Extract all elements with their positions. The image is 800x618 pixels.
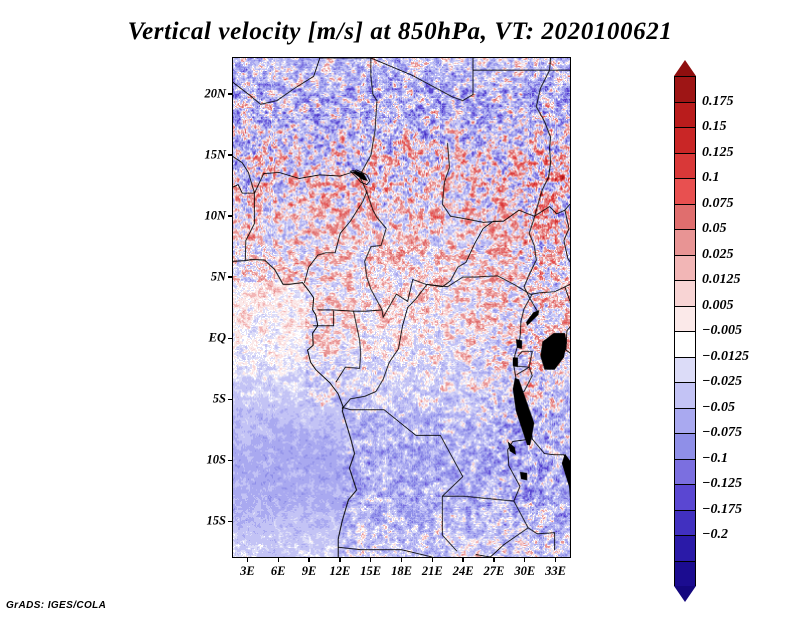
colorbar-band — [674, 280, 696, 306]
colorbar-tick-label: 0.005 — [702, 298, 734, 314]
y-tick-label: 10S — [184, 453, 226, 468]
colorbar-tick-label: 0.025 — [702, 247, 734, 263]
x-tick-label: 30E — [514, 564, 535, 579]
y-tick-label: EQ — [184, 331, 226, 346]
x-tick-label: 15E — [360, 564, 381, 579]
colorbar-tick-label: −0.0125 — [702, 349, 749, 365]
x-tick-mark — [432, 558, 433, 562]
y-tick-mark — [228, 215, 232, 216]
colorbar-tick-label: −0.125 — [702, 476, 742, 492]
x-tick-label: 9E — [302, 564, 317, 579]
colorbar-band — [674, 357, 696, 383]
x-tick-mark — [555, 558, 556, 562]
colorbar-tick-label: 0.0125 — [702, 272, 741, 288]
x-tick-mark — [462, 558, 463, 562]
colorbar-band — [674, 561, 696, 587]
colorbar-tick-label: −0.025 — [702, 374, 742, 390]
colorbar-band — [674, 382, 696, 408]
colorbar-tick-label: 0.175 — [702, 94, 734, 110]
colorbar-band — [674, 408, 696, 434]
x-tick-label: 3E — [240, 564, 255, 579]
y-tick-label: 15N — [184, 147, 226, 162]
colorbar-tick-label: −0.1 — [702, 451, 728, 467]
colorbar-band — [674, 459, 696, 485]
y-tick-mark — [228, 276, 232, 277]
x-tick-mark — [370, 558, 371, 562]
y-tick-label: 5S — [184, 392, 226, 407]
colorbar-band — [674, 127, 696, 153]
colorbar-bands — [674, 60, 696, 602]
x-tick-mark — [247, 558, 248, 562]
x-tick-label: 33E — [545, 564, 566, 579]
page-title: Vertical velocity [m/s] at 850hPa, VT: 2… — [0, 18, 800, 46]
colorbar-band — [674, 484, 696, 510]
colorbar-band — [674, 102, 696, 128]
y-tick-label: 10N — [184, 208, 226, 223]
y-tick-label: 5N — [184, 269, 226, 284]
x-tick-label: 21E — [422, 564, 443, 579]
x-tick-mark — [524, 558, 525, 562]
x-tick-mark — [401, 558, 402, 562]
colorbar-tick-label: −0.2 — [702, 527, 728, 543]
x-tick-mark — [339, 558, 340, 562]
colorbar-band — [674, 229, 696, 255]
y-tick-label: 15S — [184, 514, 226, 529]
y-tick-mark — [228, 93, 232, 94]
colorbar-band — [674, 306, 696, 332]
colorbar-tick-label: 0.1 — [702, 170, 720, 186]
y-tick-label: 20N — [184, 86, 226, 101]
colorbar-tick-label: 0.125 — [702, 145, 734, 161]
colorbar: 0.1750.150.1250.10.0750.050.0250.01250.0… — [674, 60, 794, 560]
colorbar-tick-label: 0.05 — [702, 221, 727, 237]
colorbar-band — [674, 255, 696, 281]
colorbar-band — [674, 433, 696, 459]
x-tick-mark — [308, 558, 309, 562]
x-tick-mark — [493, 558, 494, 562]
y-tick-mark — [228, 154, 232, 155]
colorbar-band — [674, 153, 696, 179]
colorbar-tick-label: −0.005 — [702, 323, 742, 339]
colorbar-tick-label: −0.175 — [702, 502, 742, 518]
x-tick-label: 6E — [271, 564, 286, 579]
country-borders-overlay — [233, 58, 570, 557]
y-tick-mark — [228, 521, 232, 522]
x-tick-label: 18E — [391, 564, 412, 579]
colorbar-tick-label: −0.075 — [702, 425, 742, 441]
colorbar-band — [674, 76, 696, 102]
colorbar-tick-label: 0.075 — [702, 196, 734, 212]
colorbar-cap-top — [674, 60, 696, 76]
colorbar-cap-bottom — [674, 586, 696, 602]
x-tick-label: 27E — [484, 564, 505, 579]
colorbar-band — [674, 331, 696, 357]
colorbar-band — [674, 535, 696, 561]
x-tick-label: 12E — [329, 564, 350, 579]
colorbar-band — [674, 178, 696, 204]
colorbar-tick-label: 0.15 — [702, 119, 727, 135]
x-tick-mark — [278, 558, 279, 562]
colorbar-band — [674, 510, 696, 536]
colorbar-tick-label: −0.05 — [702, 400, 735, 416]
x-tick-label: 24E — [453, 564, 474, 579]
y-tick-mark — [228, 399, 232, 400]
plot-area — [232, 57, 571, 558]
y-tick-mark — [228, 338, 232, 339]
grads-credit: GrADS: IGES/COLA — [6, 600, 106, 611]
colorbar-band — [674, 204, 696, 230]
y-tick-mark — [228, 460, 232, 461]
